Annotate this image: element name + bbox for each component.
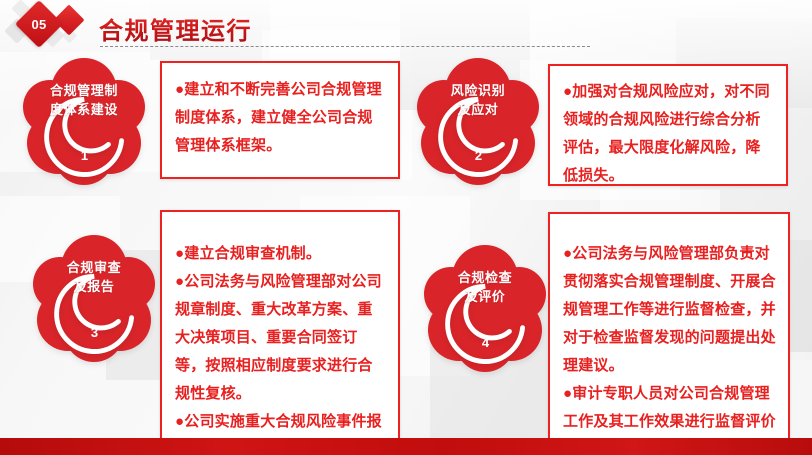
slide-header: 05 合规管理运行 bbox=[0, 0, 812, 56]
item-paragraph: ●加强对合规风险应对，对不同领域的合规风险进行综合分析评估，最大限度化解风险，降… bbox=[563, 78, 774, 190]
item-badge-4: 合规检查 及评价 4 bbox=[423, 242, 547, 372]
section-number-badge: 05 bbox=[15, 0, 63, 48]
item-number-3: 3 bbox=[60, 298, 126, 360]
badge-label-line: 合规管理制 bbox=[22, 81, 146, 100]
section-number-label: 05 bbox=[22, 7, 56, 41]
item-badge-1: 合规管理制 度体系建设 1 bbox=[22, 55, 146, 185]
title-divider bbox=[100, 46, 590, 47]
item-text-box-4: ●公司法务与风险管理部负责对贯彻落实合规管理制度、开展合规管理工作等进行监督检查… bbox=[548, 212, 790, 440]
badge-label-line: 风险识别 bbox=[416, 81, 540, 100]
item-paragraph: ●建立和不断完善公司合规管理制度体系，建立健全公司合规管理体系框架。 bbox=[175, 76, 386, 160]
badge-label-line: 度体系建设 bbox=[22, 100, 146, 119]
item-text-box-3: ●建立合规审查机制。 ●公司法务与风险管理部对公司规章制度、重大改革方案、重大决… bbox=[160, 210, 400, 442]
item-number-4: 4 bbox=[451, 308, 517, 370]
item-paragraph: ●建立合规审查机制。 bbox=[175, 240, 386, 268]
item-badge-3: 合规审查 及报告 3 bbox=[32, 232, 156, 362]
item-paragraph: ●审计专职人员对公司合规管理工作及其工作效果进行监督评价 bbox=[563, 380, 776, 436]
item-number-2: 2 bbox=[444, 121, 510, 183]
badge-label-line: 合规审查 bbox=[32, 258, 156, 277]
badge-label-line: 及报告 bbox=[32, 277, 156, 296]
item-paragraph: ●公司法务与风险管理部负责对贯彻落实合规管理制度、开展合规管理工作等进行监督检查… bbox=[563, 240, 776, 380]
item-badge-label-3: 合规审查 及报告 bbox=[32, 258, 156, 296]
page-title: 合规管理运行 bbox=[99, 11, 252, 46]
badge-label-line: 合规检查 bbox=[423, 268, 547, 287]
item-number-1: 1 bbox=[50, 121, 116, 183]
item-badge-label-4: 合规检查 及评价 bbox=[423, 268, 547, 306]
item-badge-label-2: 风险识别 及应对 bbox=[416, 81, 540, 119]
item-body-2: ●加强对合规风险应对，对不同领域的合规风险进行综合分析评估，最大限度化解风险，降… bbox=[563, 78, 774, 190]
item-badge-label-1: 合规管理制 度体系建设 bbox=[22, 81, 146, 119]
item-body-3: ●建立合规审查机制。 ●公司法务与风险管理部对公司规章制度、重大改革方案、重大决… bbox=[175, 240, 386, 455]
badge-label-line: 及评价 bbox=[423, 287, 547, 306]
footer-bar-sheen bbox=[0, 438, 812, 455]
footer-bar bbox=[0, 438, 812, 455]
badge-label-line: 及应对 bbox=[416, 100, 540, 119]
item-text-box-2: ●加强对合规风险应对，对不同领域的合规风险进行综合分析评估，最大限度化解风险，降… bbox=[548, 64, 788, 186]
item-paragraph: ●公司法务与风险管理部对公司规章制度、重大改革方案、重大决策项目、重要合同签订等… bbox=[175, 268, 386, 408]
item-text-box-1: ●建立和不断完善公司合规管理制度体系，建立健全公司合规管理体系框架。 bbox=[160, 61, 400, 179]
item-body-4: ●公司法务与风险管理部负责对贯彻落实合规管理制度、开展合规管理工作等进行监督检查… bbox=[563, 240, 776, 436]
item-body-1: ●建立和不断完善公司合规管理制度体系，建立健全公司合规管理体系框架。 bbox=[175, 76, 386, 160]
item-badge-2: 风险识别 及应对 2 bbox=[416, 55, 540, 185]
slide-canvas: 05 合规管理运行 合规管理制 度体系建设 1 bbox=[0, 0, 812, 455]
